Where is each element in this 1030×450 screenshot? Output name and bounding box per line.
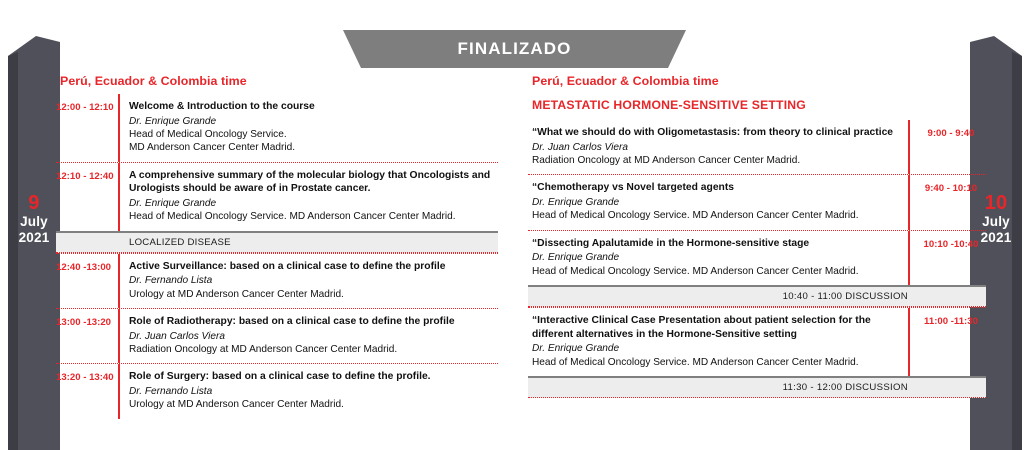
session-body: Role of Radiotherapy: based on a clinica… — [120, 315, 498, 356]
session-row[interactable]: 13:20 - 13:40Role of Surgery: based on a… — [56, 363, 498, 418]
session-speaker: Dr. Juan Carlos Viera — [532, 141, 898, 154]
session-speaker: Dr. Enrique Grande — [129, 197, 496, 210]
agenda-poster: 9 July 2021 10 July 2021 FINALIZADO Perú… — [0, 0, 1030, 450]
session-body: A comprehensive summary of the molecular… — [120, 169, 498, 224]
session-affiliation: Urology at MD Anderson Cancer Center Mad… — [129, 288, 496, 301]
day2-timezone-title: Perú, Ecuador & Colombia time — [532, 74, 986, 88]
day1-session-list: 12:00 - 12:10Welcome & Introduction to t… — [56, 94, 498, 419]
session-time: 13:00 -13:20 — [56, 315, 118, 328]
session-time: 10:10 -10:40 — [910, 237, 986, 250]
session-speaker: Dr. Enrique Grande — [129, 115, 496, 128]
session-affiliation: Radiation Oncology at MD Anderson Cancer… — [129, 343, 496, 356]
day1-timezone-title: Perú, Ecuador & Colombia time — [60, 74, 498, 88]
session-title: Welcome & Introduction to the course — [129, 100, 496, 114]
session-speaker: Dr. Enrique Grande — [532, 196, 898, 209]
session-body: “Chemotherapy vs Novel targeted agentsDr… — [528, 181, 908, 222]
session-body: Active Surveillance: based on a clinical… — [120, 260, 498, 301]
day1-day-number: 9 — [8, 192, 60, 214]
band-label: LOCALIZED DISEASE — [129, 237, 231, 248]
section-band: LOCALIZED DISEASE — [56, 231, 498, 253]
timeline-rule — [118, 231, 120, 252]
session-body: “Interactive Clinical Case Presentation … — [528, 314, 908, 369]
day2-session-list: “What we should do with Oligometastasis:… — [528, 120, 986, 398]
session-affiliation: Urology at MD Anderson Cancer Center Mad… — [129, 398, 496, 411]
session-affiliation: Head of Medical Oncology Service. — [129, 128, 496, 141]
timeline-rule — [908, 285, 910, 306]
session-time: 9:00 - 9:40 — [910, 126, 986, 139]
day1-year: 2021 — [8, 230, 60, 245]
day1-month: July — [8, 214, 60, 229]
session-body: Role of Surgery: based on a clinical cas… — [120, 370, 498, 411]
session-affiliation: Head of Medical Oncology Service. MD And… — [532, 265, 898, 278]
timeline-rule — [908, 376, 910, 397]
day2-section-title: METASTATIC HORMONE-SENSITIVE SETTING — [532, 98, 986, 112]
band-label: 11:30 - 12:00 DISCUSSION — [783, 382, 908, 393]
session-row[interactable]: 12:10 - 12:40A comprehensive summary of … — [56, 162, 498, 231]
session-title: Active Surveillance: based on a clinical… — [129, 260, 496, 274]
agenda-column-day2: Perú, Ecuador & Colombia time METASTATIC… — [528, 74, 986, 398]
session-affiliation: Radiation Oncology at MD Anderson Cancer… — [532, 154, 898, 167]
session-row[interactable]: 12:40 -13:00Active Surveillance: based o… — [56, 253, 498, 308]
session-title: “Dissecting Apalutamide in the Hormone-s… — [532, 237, 898, 251]
session-title: A comprehensive summary of the molecular… — [129, 169, 496, 196]
discussion-band: 10:40 - 11:00 DISCUSSION — [528, 285, 986, 307]
session-title: “Interactive Clinical Case Presentation … — [532, 314, 898, 341]
band-label: 10:40 - 11:00 DISCUSSION — [783, 291, 908, 302]
session-speaker: Dr. Fernando Lista — [129, 385, 496, 398]
session-title: Role of Radiotherapy: based on a clinica… — [129, 315, 496, 329]
session-body: Welcome & Introduction to the courseDr. … — [120, 100, 498, 155]
discussion-band: 11:30 - 12:00 DISCUSSION — [528, 376, 986, 398]
session-speaker: Dr. Enrique Grande — [532, 251, 898, 264]
session-affiliation: Head of Medical Oncology Service. MD And… — [129, 210, 496, 223]
session-affiliation: Head of Medical Oncology Service. MD And… — [532, 209, 898, 222]
session-title: “Chemotherapy vs Novel targeted agents — [532, 181, 898, 195]
session-row[interactable]: “Chemotherapy vs Novel targeted agentsDr… — [528, 174, 986, 229]
session-row[interactable]: “What we should do with Oligometastasis:… — [528, 120, 986, 174]
agenda-column-day1: Perú, Ecuador & Colombia time 12:00 - 12… — [56, 74, 498, 419]
session-time: 12:40 -13:00 — [56, 260, 118, 273]
session-body: “What we should do with Oligometastasis:… — [528, 126, 908, 167]
session-title: “What we should do with Oligometastasis:… — [532, 126, 898, 140]
session-time: 11:00 -11:30 — [910, 314, 986, 327]
session-title: Role of Surgery: based on a clinical cas… — [129, 370, 496, 384]
session-speaker: Dr. Enrique Grande — [532, 342, 898, 355]
session-row[interactable]: 13:00 -13:20Role of Radiotherapy: based … — [56, 308, 498, 363]
session-affiliation-2: MD Anderson Cancer Center Madrid. — [129, 141, 496, 154]
session-affiliation: Head of Medical Oncology Service. MD And… — [532, 356, 898, 369]
status-banner: FINALIZADO — [343, 30, 686, 68]
date-ribbon-day1-date: 9 July 2021 — [8, 192, 60, 245]
session-body: “Dissecting Apalutamide in the Hormone-s… — [528, 237, 908, 278]
session-time: 12:00 - 12:10 — [56, 100, 118, 113]
session-row[interactable]: “Dissecting Apalutamide in the Hormone-s… — [528, 230, 986, 285]
status-badge: FINALIZADO — [458, 39, 572, 59]
session-speaker: Dr. Fernando Lista — [129, 274, 496, 287]
session-time: 13:20 - 13:40 — [56, 370, 118, 383]
session-row[interactable]: “Interactive Clinical Case Presentation … — [528, 307, 986, 376]
session-row[interactable]: 12:00 - 12:10Welcome & Introduction to t… — [56, 94, 498, 162]
session-time: 12:10 - 12:40 — [56, 169, 118, 182]
session-speaker: Dr. Juan Carlos Viera — [129, 330, 496, 343]
session-time: 9:40 - 10:10 — [910, 181, 986, 194]
